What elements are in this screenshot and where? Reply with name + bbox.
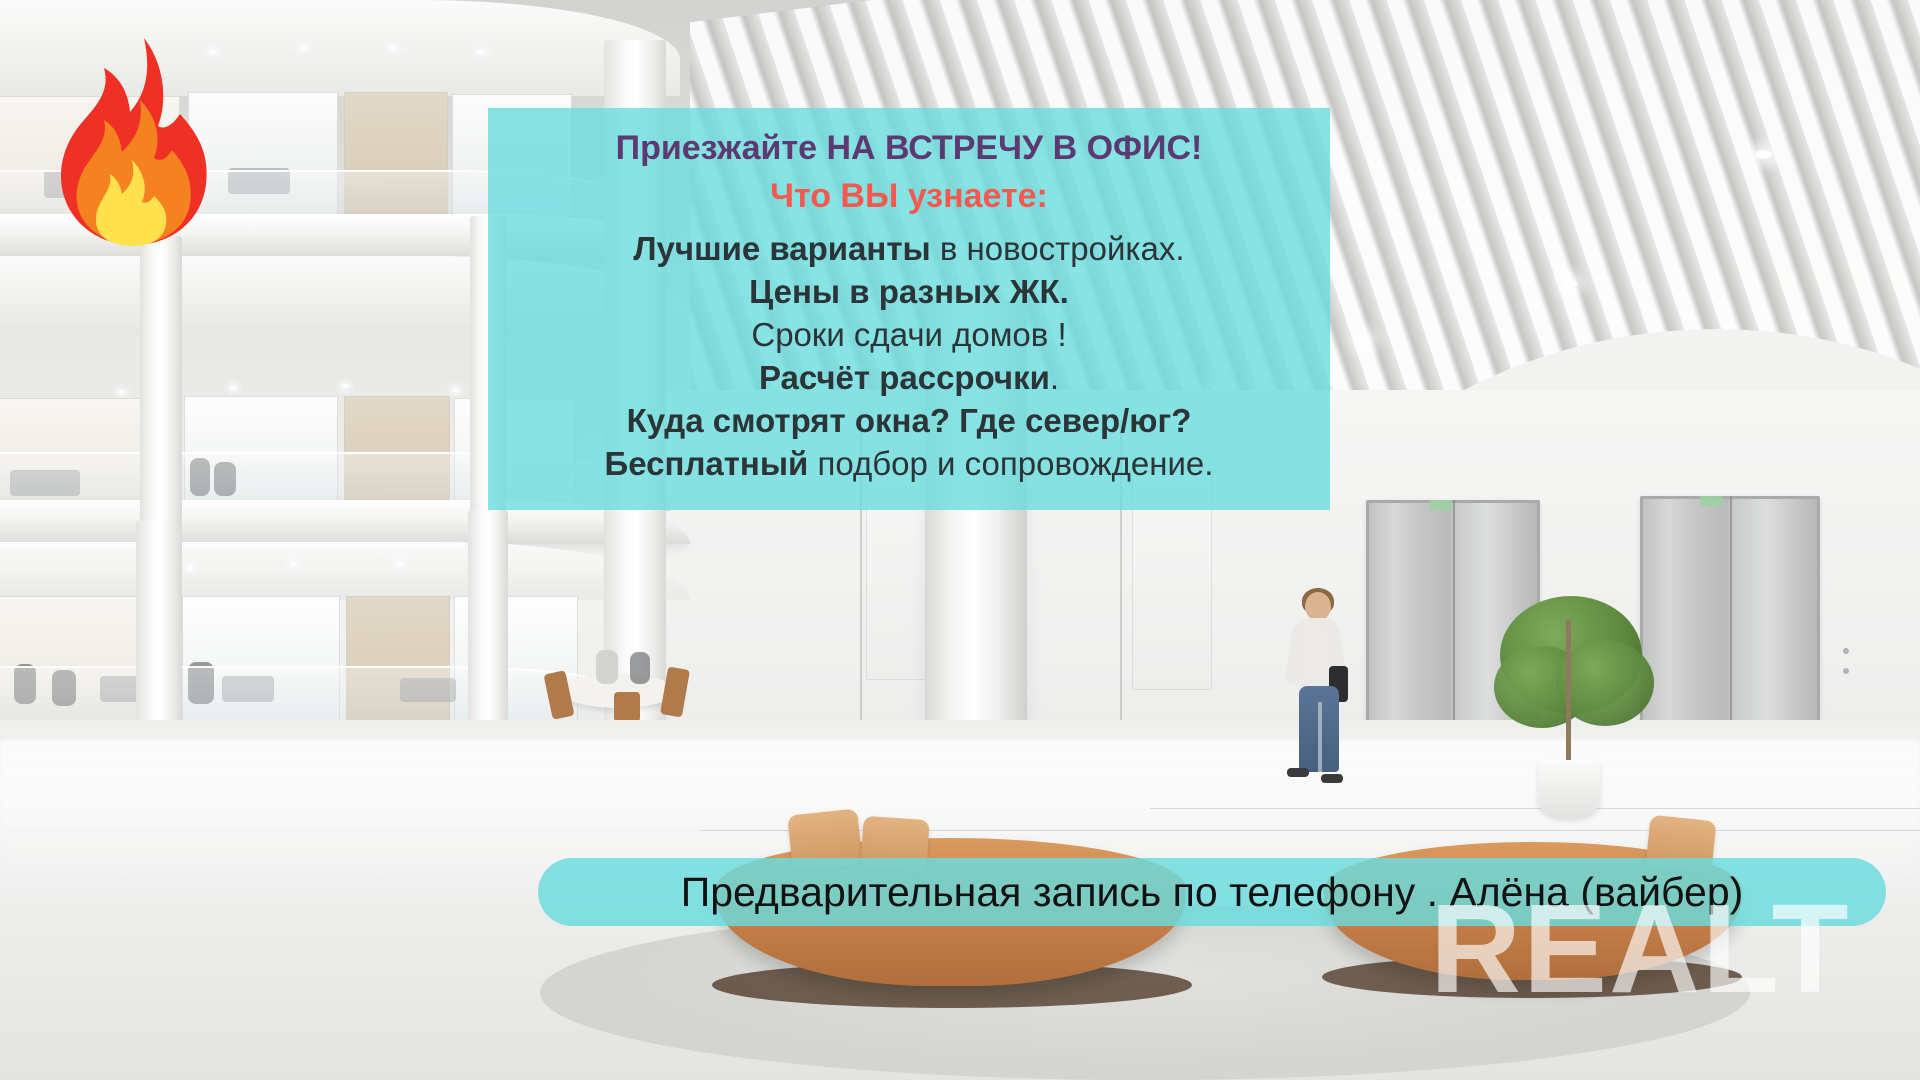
- elevator-call-button[interactable]: [1843, 668, 1849, 674]
- realt-watermark: REALT: [1430, 886, 1851, 1012]
- panel-subhead: Что ВЫ узнаете:: [488, 174, 1330, 218]
- atrium-column: [468, 510, 508, 732]
- atrium-downlight: [390, 46, 397, 50]
- atrium-downlight: [300, 46, 307, 50]
- exit-sign-icon: [1430, 500, 1452, 510]
- person-leg-gap: [1318, 702, 1322, 772]
- panel-line-6-red: Бесплатный: [605, 445, 809, 482]
- panel-line-4: Расчёт рассрочки.: [488, 357, 1330, 400]
- elevator-call-button[interactable]: [1843, 648, 1849, 654]
- panel-line-5: Куда смотрят окна? Где север/юг?: [488, 400, 1330, 443]
- floor-joint: [1150, 808, 1920, 809]
- exit-sign-icon: [1700, 496, 1722, 506]
- panel-line-2: Цены в разных ЖК.: [488, 271, 1330, 314]
- poster-root: Приезжайте НА ВСТРЕЧУ В ОФИС! Что ВЫ узн…: [0, 0, 1920, 1080]
- atrium-downlight: [230, 386, 237, 390]
- fire-emoji-icon: [48, 34, 218, 249]
- ceiling-downlight: [1360, 337, 1369, 343]
- atrium-downlight: [290, 562, 297, 566]
- ceiling-downlight: [1565, 280, 1577, 287]
- panel-line-3: Сроки сдачи домов !: [488, 314, 1330, 357]
- panel-line-1: Лучшие варианты в новостройках.: [488, 228, 1330, 271]
- person-head: [1305, 592, 1331, 621]
- atrium-downlight: [396, 562, 403, 566]
- plant-trunk: [1566, 620, 1571, 766]
- person-shoe: [1287, 768, 1309, 777]
- person-walking: [1283, 592, 1353, 788]
- meeting-person: [596, 650, 618, 684]
- panel-line-4-tail: .: [1050, 359, 1059, 396]
- panel-line-4-red: рассрочки: [879, 359, 1050, 396]
- atrium-column: [140, 236, 182, 536]
- atrium-downlight: [342, 384, 349, 388]
- panel-headline: Приезжайте НА ВСТРЕЧУ В ОФИС!: [488, 126, 1330, 170]
- meeting-person: [630, 652, 650, 684]
- atrium-soffit-1: [0, 542, 690, 600]
- atrium-downlight: [478, 50, 485, 54]
- panel-line-2-rest: в разных ЖК.: [840, 273, 1069, 310]
- person-shoe: [1321, 774, 1343, 783]
- plant-pot: [1538, 760, 1600, 818]
- atrium-downlight: [452, 388, 459, 392]
- panel-line-1-bold: Лучшие варианты: [633, 230, 930, 267]
- atrium-downlight: [186, 566, 193, 570]
- panel-line-5-bold: Куда смотрят окна? Где север/юг?: [627, 402, 1192, 439]
- ceiling-downlight: [1755, 150, 1772, 159]
- panel-line-4-bold: Расчёт: [759, 359, 879, 396]
- atrium-column: [136, 520, 182, 730]
- panel-line-2-red: Цены: [749, 273, 840, 310]
- panel-line-6: Бесплатный подбор и сопровождение.: [488, 443, 1330, 486]
- atrium-downlight: [118, 390, 125, 394]
- offer-panel: Приезжайте НА ВСТРЕЧУ В ОФИС! Что ВЫ узн…: [488, 108, 1330, 510]
- panel-line-6-rest: подбор и сопровождение.: [808, 445, 1213, 482]
- meeting-chair: [614, 692, 640, 722]
- panel-line-1-rest: в новостройках.: [931, 230, 1185, 267]
